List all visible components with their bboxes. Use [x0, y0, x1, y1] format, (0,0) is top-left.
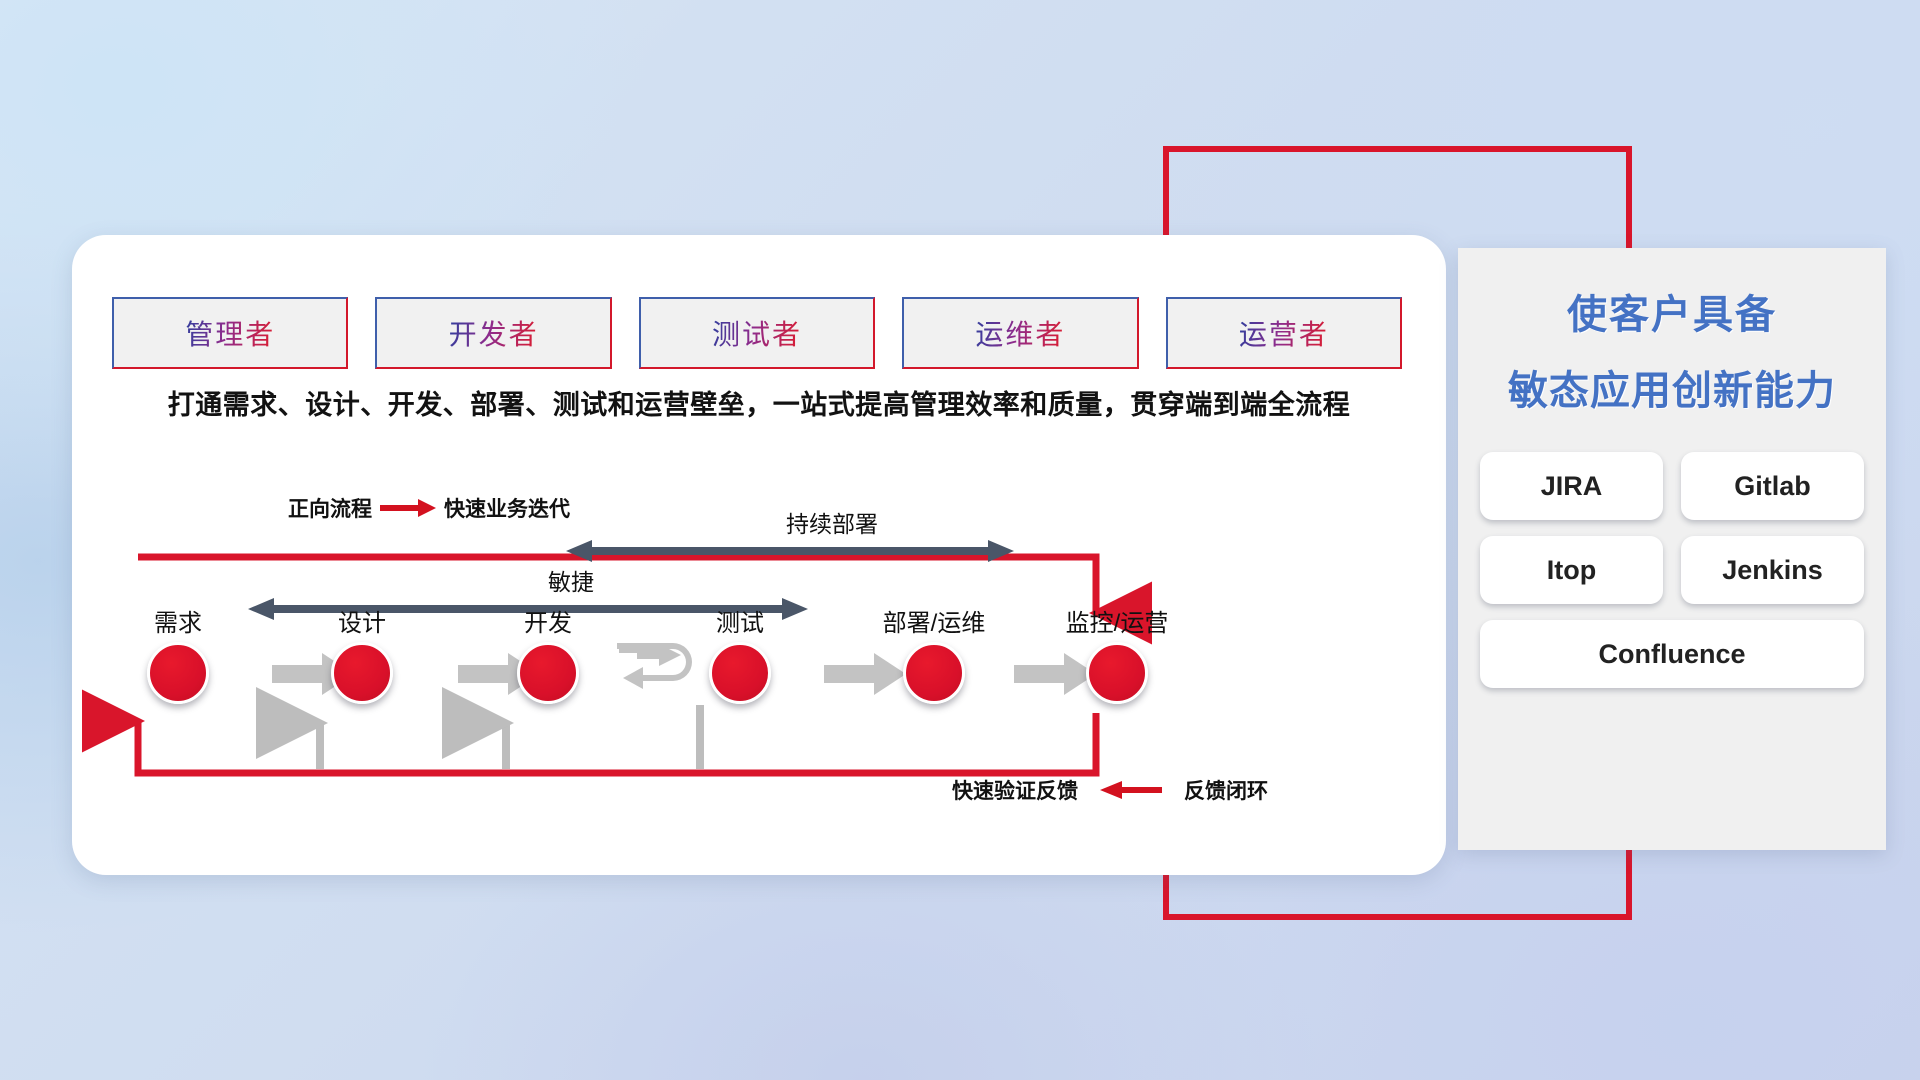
tool-chip-jira[interactable]: JIRA	[1480, 452, 1663, 520]
stage-label: 开发	[483, 603, 613, 638]
stage-dot	[1086, 642, 1148, 704]
role-box-developer[interactable]: 开发者	[375, 297, 611, 369]
stage-label: 设计	[297, 603, 427, 638]
main-diagram-card: 管理者 开发者 测试者 运维者 运营者 打通需求、设计、开发、部署、测试和运营壁…	[72, 235, 1446, 875]
role-box-operations[interactable]: 运营者	[1166, 297, 1402, 369]
span-label-agile: 敏捷	[548, 563, 594, 597]
arrow-right-icon	[380, 498, 436, 518]
legend-forward-left-label: 正向流程	[288, 493, 372, 523]
double-arrow-continuous-deployment-icon	[566, 540, 1014, 562]
legend-feedback-right-label: 反馈闭环	[1184, 775, 1268, 805]
legend-forward-right-label: 快速业务迭代	[444, 493, 570, 523]
stage-label: 部署/运维	[869, 603, 999, 638]
stage-dot	[517, 642, 579, 704]
stage-dot	[331, 642, 393, 704]
headline-text: 打通需求、设计、开发、部署、测试和运营壁垒，一站式提高管理效率和质量，贯穿端到端…	[72, 383, 1446, 422]
pipeline-row: 需求 设计 开发 测试 部署/运维	[112, 603, 1412, 763]
role-label: 测试者	[712, 313, 802, 353]
stage-label: 需求	[113, 603, 243, 638]
role-box-manager[interactable]: 管理者	[112, 297, 348, 369]
tool-chip-itop[interactable]: Itop	[1480, 536, 1663, 604]
value-proposition-panel: 使客户具备 敏态应用创新能力 JIRA Gitlab Itop Jenkins …	[1458, 248, 1886, 850]
stage-design[interactable]: 设计	[297, 603, 427, 704]
span-label-continuous-deployment: 持续部署	[786, 505, 878, 539]
legend-feedback-loop: 快速验证反馈 反馈闭环	[952, 775, 1268, 805]
stage-label: 测试	[675, 603, 805, 638]
role-box-ops[interactable]: 运维者	[902, 297, 1138, 369]
role-label: 运营者	[1239, 313, 1329, 353]
role-label: 开发者	[449, 313, 539, 353]
stage-testing[interactable]: 测试	[675, 603, 805, 704]
stage-requirements[interactable]: 需求	[113, 603, 243, 704]
tool-chip-gitlab[interactable]: Gitlab	[1681, 452, 1864, 520]
stage-dot	[147, 642, 209, 704]
tools-grid: JIRA Gitlab Itop Jenkins Confluence	[1480, 452, 1864, 688]
legend-feedback-left-label: 快速验证反馈	[952, 775, 1078, 805]
tool-chip-jenkins[interactable]: Jenkins	[1681, 536, 1864, 604]
roles-row: 管理者 开发者 测试者 运维者 运营者	[112, 297, 1402, 369]
panel-title-line-2: 敏态应用创新能力	[1458, 358, 1886, 416]
stage-dot	[903, 642, 965, 704]
role-label: 管理者	[185, 313, 275, 353]
panel-title-line-1: 使客户具备	[1458, 282, 1886, 340]
tool-chip-confluence[interactable]: Confluence	[1480, 620, 1864, 688]
stage-dot	[709, 642, 771, 704]
stage-deploy-ops[interactable]: 部署/运维	[869, 603, 999, 704]
stage-label: 监控/运营	[1052, 603, 1182, 638]
legend-forward-flow: 正向流程 快速业务迭代	[288, 493, 570, 523]
stage-development[interactable]: 开发	[483, 603, 613, 704]
role-label: 运维者	[975, 313, 1065, 353]
arrow-left-icon	[1100, 780, 1162, 800]
stage-monitor-operations[interactable]: 监控/运营	[1052, 603, 1182, 704]
role-box-tester[interactable]: 测试者	[639, 297, 875, 369]
